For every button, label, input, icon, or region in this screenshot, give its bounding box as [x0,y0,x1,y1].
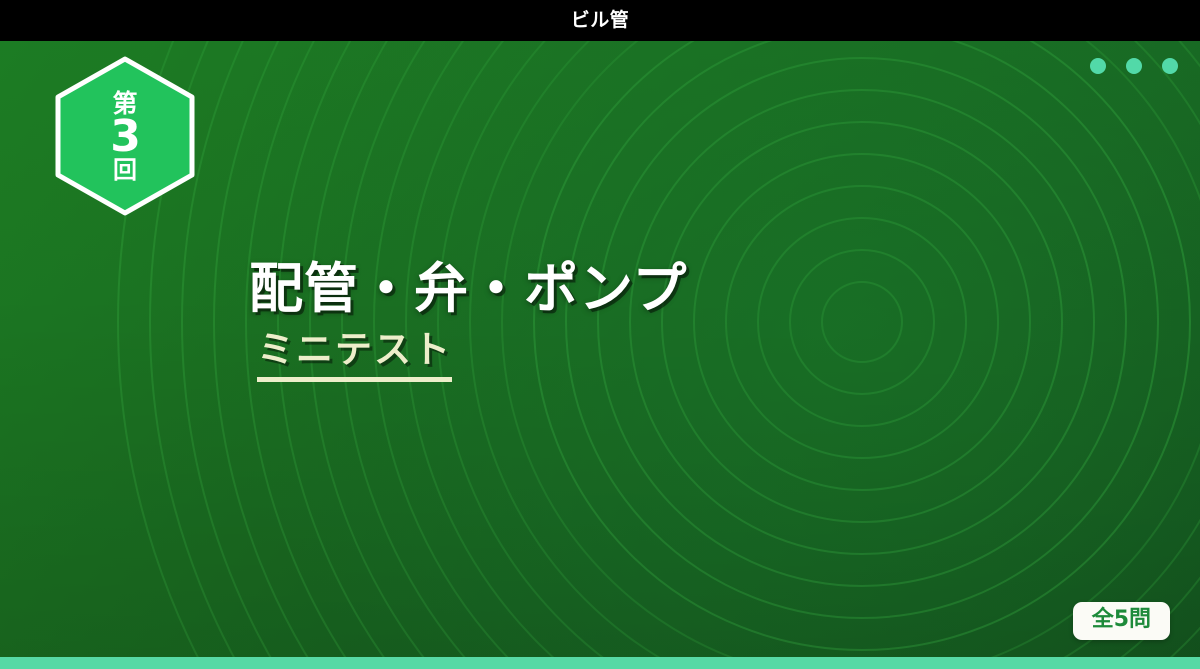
episode-suffix: 回 [113,158,137,182]
bottom-accent-bar [0,657,1200,669]
slide-canvas: 第 3 回 配管・弁・ポンプ ミニテスト 全5問 [0,41,1200,669]
subtitle-row: ミニテスト [249,329,687,382]
page-subtitle: ミニテスト [257,329,452,382]
app-title: ビル管 [571,11,630,30]
decor-dot-icon-3 [1162,58,1178,74]
page-title: 配管・弁・ポンプ [249,259,687,319]
decor-dot-icon-2 [1126,58,1142,74]
decor-dot-icon-1 [1090,58,1106,74]
slide-root: ビル管 [0,0,1200,669]
top-bar: ビル管 [0,0,1200,41]
episode-hex-label: 第 3 回 [54,55,196,217]
episode-hex-badge: 第 3 回 [54,55,196,217]
decor-dots-group [1090,58,1178,74]
question-count-badge: 全5問 [1073,602,1170,640]
title-block: 配管・弁・ポンプ ミニテスト [249,259,687,382]
episode-number: 3 [110,115,140,159]
